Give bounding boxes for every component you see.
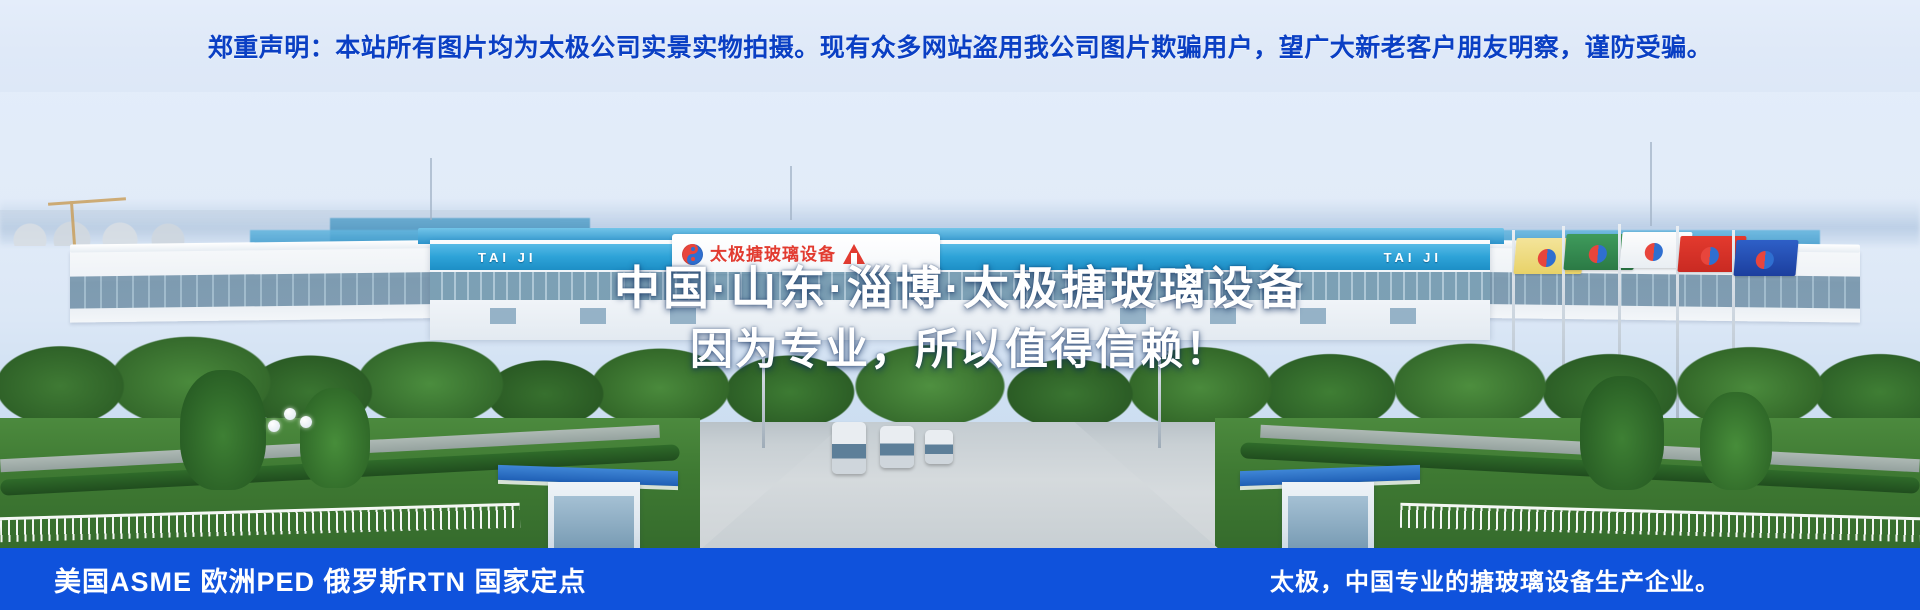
yinyang-dot-upper bbox=[691, 247, 695, 251]
flag-emblem bbox=[1537, 249, 1557, 267]
company-slogan-text: 太极，中国专业的搪玻璃设备生产企业。 bbox=[1270, 548, 1720, 610]
copyright-notice-text: 郑重声明：本站所有图片均为太极公司实景实物拍摄。现有众多网站盗用我公司图片欺骗用… bbox=[208, 28, 1713, 64]
flag-emblem bbox=[1588, 245, 1608, 263]
certification-bar: 美国ASME 欧洲PED 俄罗斯RTN 国家定点 太极，中国专业的搪玻璃设备生产… bbox=[0, 548, 1920, 610]
main-hall-facade-band: TAI JI TAI JI bbox=[430, 244, 1490, 270]
lamp-globe bbox=[268, 420, 280, 432]
copyright-notice-bar: 郑重声明：本站所有图片均为太极公司实景实物拍摄。现有众多网站盗用我公司图片欺骗用… bbox=[0, 0, 1920, 92]
street-lamp bbox=[1158, 356, 1161, 448]
guard-house-window bbox=[554, 496, 634, 550]
signboard-text: 太极搪玻璃设备 bbox=[710, 246, 836, 263]
antenna-pole bbox=[430, 158, 432, 220]
bus bbox=[832, 422, 866, 474]
street-lamp bbox=[762, 356, 765, 448]
arch-mark-icon bbox=[843, 244, 865, 264]
guard-house-left bbox=[548, 482, 640, 550]
wing-glazing bbox=[70, 271, 490, 308]
flag-emblem bbox=[1700, 247, 1720, 265]
bus bbox=[880, 426, 914, 468]
guard-house-window bbox=[1288, 496, 1368, 550]
roof-label-right: TAI JI bbox=[1384, 250, 1442, 265]
bus bbox=[925, 430, 953, 464]
tree bbox=[1700, 392, 1772, 490]
certification-text: 美国ASME 欧洲PED 俄罗斯RTN 国家定点 bbox=[54, 548, 587, 610]
flag-blue bbox=[1733, 240, 1798, 276]
wing-glazing bbox=[1430, 271, 1860, 308]
tree bbox=[180, 370, 266, 490]
tree bbox=[1580, 376, 1664, 490]
tree bbox=[300, 388, 370, 488]
roof-label-left: TAI JI bbox=[478, 250, 536, 265]
yinyang-dot-lower bbox=[691, 257, 695, 261]
lamp-globe bbox=[300, 416, 312, 428]
guard-house-right bbox=[1282, 482, 1374, 550]
office-wing-left bbox=[70, 245, 490, 322]
flag-emblem bbox=[1644, 243, 1664, 261]
factory-photo: TAI JI TAI JI 太极搪玻璃设备 bbox=[0, 70, 1920, 550]
hero-banner-stage: TAI JI TAI JI 太极搪玻璃设备 bbox=[0, 0, 1920, 610]
main-hall-window-row bbox=[430, 272, 1490, 300]
company-signboard: 太极搪玻璃设备 bbox=[672, 234, 940, 274]
lamp-globe bbox=[284, 408, 296, 420]
antenna-pole bbox=[1650, 142, 1652, 226]
flag-emblem bbox=[1755, 251, 1775, 269]
antenna-pole bbox=[790, 166, 792, 220]
yinyang-icon bbox=[682, 244, 703, 265]
